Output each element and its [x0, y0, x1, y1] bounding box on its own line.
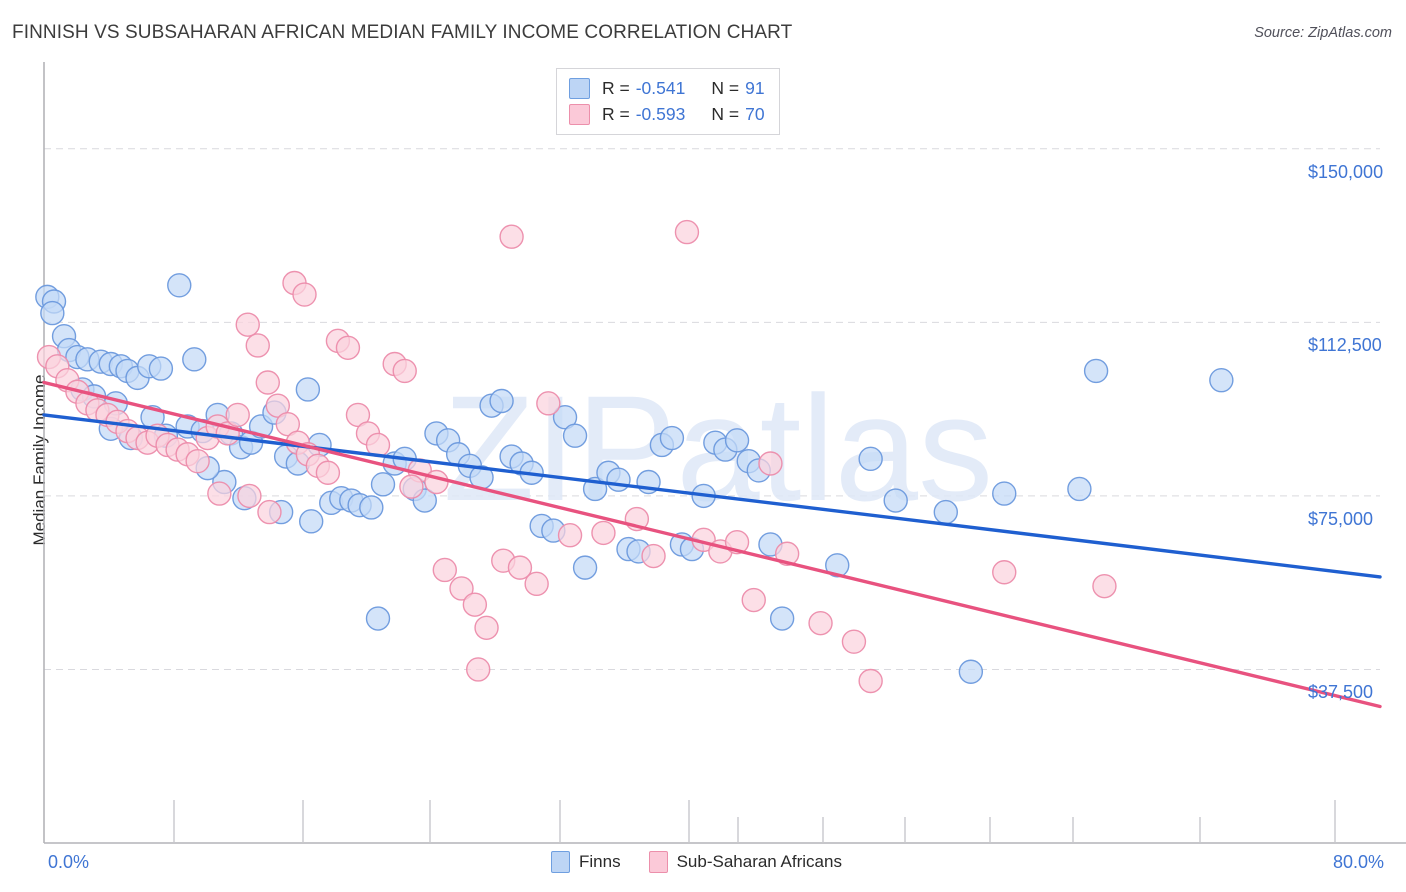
data-point[interactable]: [336, 336, 359, 359]
data-point[interactable]: [367, 607, 390, 630]
r-value: -0.593: [636, 104, 686, 125]
legend-swatch-icon: [649, 851, 668, 873]
sub-saharan-africans-swatch-icon: [569, 104, 590, 125]
stats-row: R =-0.593N =70: [569, 101, 765, 127]
data-point[interactable]: [168, 274, 191, 297]
y-tick-label: $150,000: [1308, 162, 1383, 183]
data-point[interactable]: [400, 475, 423, 498]
data-point[interactable]: [771, 607, 794, 630]
data-point[interactable]: [859, 447, 882, 470]
data-point[interactable]: [208, 482, 231, 505]
data-point[interactable]: [642, 545, 665, 568]
data-point[interactable]: [809, 612, 832, 635]
x-tick-label: 80.0%: [1333, 852, 1384, 873]
n-value: 91: [745, 78, 764, 99]
data-point[interactable]: [1068, 477, 1091, 500]
data-point[interactable]: [258, 501, 281, 524]
data-point[interactable]: [993, 561, 1016, 584]
data-point[interactable]: [859, 670, 882, 693]
data-point[interactable]: [500, 225, 523, 248]
legend-label: Sub-Saharan Africans: [677, 852, 842, 872]
data-point[interactable]: [525, 572, 548, 595]
x-tick-label: 0.0%: [48, 852, 89, 873]
data-point[interactable]: [959, 660, 982, 683]
data-point[interactable]: [884, 489, 907, 512]
legend-item-finns[interactable]: Finns: [551, 851, 621, 873]
r-label: R =: [602, 104, 630, 125]
data-point[interactable]: [296, 378, 319, 401]
data-point[interactable]: [559, 524, 582, 547]
data-point[interactable]: [316, 461, 339, 484]
series-legend: FinnsSub-Saharan Africans: [551, 849, 870, 875]
data-point[interactable]: [759, 452, 782, 475]
data-point[interactable]: [1093, 575, 1116, 598]
data-point[interactable]: [183, 348, 206, 371]
data-point[interactable]: [842, 630, 865, 653]
data-point[interactable]: [675, 221, 698, 244]
data-point[interactable]: [372, 473, 395, 496]
data-point[interactable]: [660, 427, 683, 450]
legend-swatch-icon: [551, 851, 570, 873]
n-label: N =: [711, 78, 739, 99]
data-point[interactable]: [393, 359, 416, 382]
data-point[interactable]: [475, 616, 498, 639]
y-tick-label: $37,500: [1308, 682, 1373, 703]
data-point[interactable]: [934, 501, 957, 524]
data-point[interactable]: [490, 390, 513, 413]
n-label: N =: [711, 104, 739, 125]
data-point[interactable]: [149, 357, 172, 380]
data-point[interactable]: [425, 471, 448, 494]
data-point[interactable]: [293, 283, 316, 306]
data-point[interactable]: [1085, 359, 1108, 382]
correlation-chart: FINNISH VS SUBSAHARAN AFRICAN MEDIAN FAM…: [0, 0, 1406, 892]
data-point[interactable]: [186, 450, 209, 473]
y-tick-label: $75,000: [1308, 509, 1373, 530]
data-point[interactable]: [463, 593, 486, 616]
data-point[interactable]: [537, 392, 560, 415]
data-point[interactable]: [607, 468, 630, 491]
r-value: -0.541: [636, 78, 686, 99]
stats-row: R =-0.541N =91: [569, 75, 765, 101]
data-point[interactable]: [993, 482, 1016, 505]
r-label: R =: [602, 78, 630, 99]
data-point[interactable]: [574, 556, 597, 579]
data-point[interactable]: [246, 334, 269, 357]
data-point[interactable]: [360, 496, 383, 519]
data-point[interactable]: [433, 558, 456, 581]
data-point[interactable]: [742, 589, 765, 612]
y-tick-label: $112,500: [1308, 335, 1382, 356]
data-point[interactable]: [41, 302, 64, 325]
data-point[interactable]: [564, 424, 587, 447]
data-point[interactable]: [592, 521, 615, 544]
legend-item-sub-saharan-africans[interactable]: Sub-Saharan Africans: [649, 851, 842, 873]
data-point[interactable]: [1210, 369, 1233, 392]
finns-swatch-icon: [569, 78, 590, 99]
n-value: 70: [745, 104, 764, 125]
data-point[interactable]: [300, 510, 323, 533]
legend-label: Finns: [579, 852, 621, 872]
data-point[interactable]: [226, 403, 249, 426]
data-point[interactable]: [467, 658, 490, 681]
data-point[interactable]: [236, 313, 259, 336]
data-point[interactable]: [256, 371, 279, 394]
data-point[interactable]: [238, 484, 261, 507]
data-point[interactable]: [726, 429, 749, 452]
correlation-stats-legend: R =-0.541N =91R =-0.593N =70: [556, 68, 780, 135]
